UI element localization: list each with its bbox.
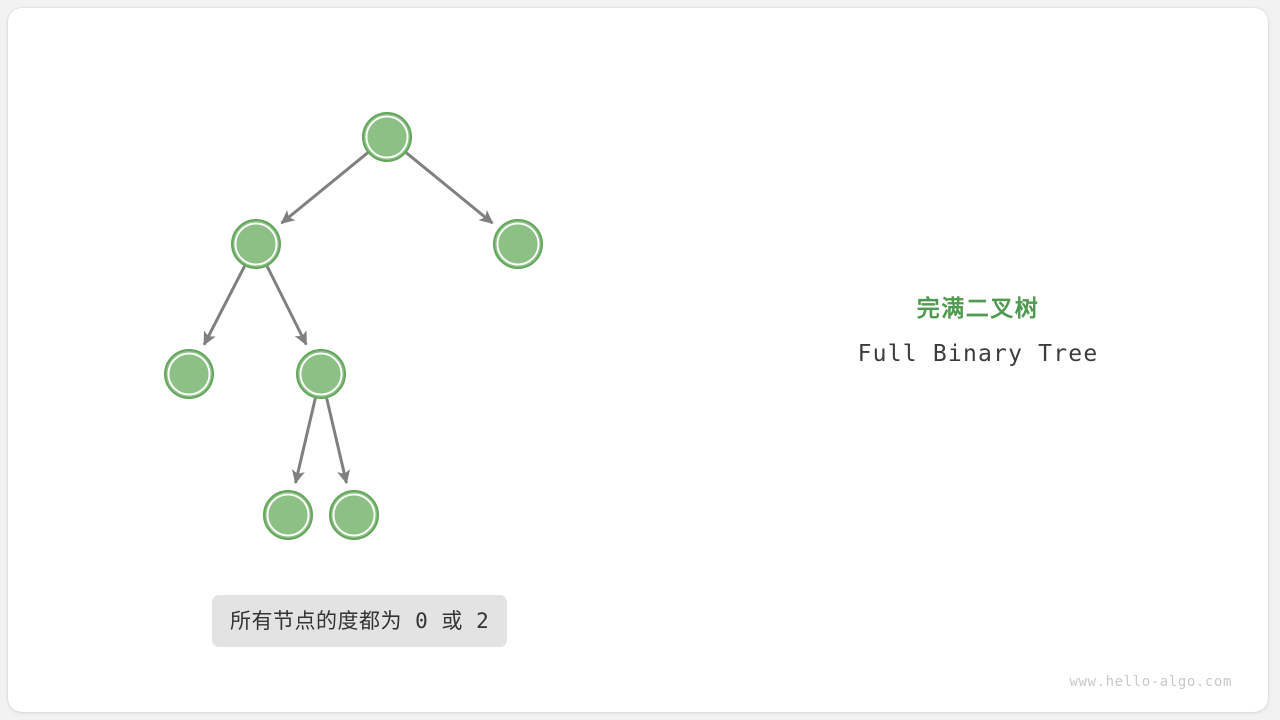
tree-node-core (368, 118, 407, 157)
tree-node (297, 350, 345, 398)
diagram-canvas: 完满二叉树 Full Binary Tree 所有节点的度都为 0 或 2 ww… (0, 0, 1280, 720)
tree-node (264, 491, 312, 539)
tree-edges (204, 153, 492, 483)
tree-node-core (237, 225, 276, 264)
tree-edge (204, 266, 244, 344)
tree-edge (282, 153, 368, 223)
legend-title-cn: 完满二叉树 (768, 296, 1188, 324)
legend-title-en: Full Binary Tree (768, 341, 1188, 367)
caption-badge: 所有节点的度都为 0 或 2 (212, 595, 507, 647)
tree-node (363, 113, 411, 161)
tree-node-core (302, 355, 341, 394)
tree-node-core (499, 225, 538, 264)
tree-node-core (269, 496, 308, 535)
tree-node (232, 220, 280, 268)
tree-node (494, 220, 542, 268)
tree-node-core (170, 355, 209, 394)
tree-node (330, 491, 378, 539)
tree-edge (296, 398, 316, 483)
tree-node (165, 350, 213, 398)
diagram-card: 完满二叉树 Full Binary Tree 所有节点的度都为 0 或 2 ww… (8, 8, 1268, 712)
tree-nodes (165, 113, 542, 539)
tree-edge (327, 398, 347, 483)
site-watermark: www.hello-algo.com (1069, 674, 1232, 690)
tree-edge (406, 153, 492, 223)
tree-edge (267, 266, 306, 344)
tree-node-core (335, 496, 374, 535)
legend-block: 完满二叉树 Full Binary Tree (768, 296, 1188, 367)
